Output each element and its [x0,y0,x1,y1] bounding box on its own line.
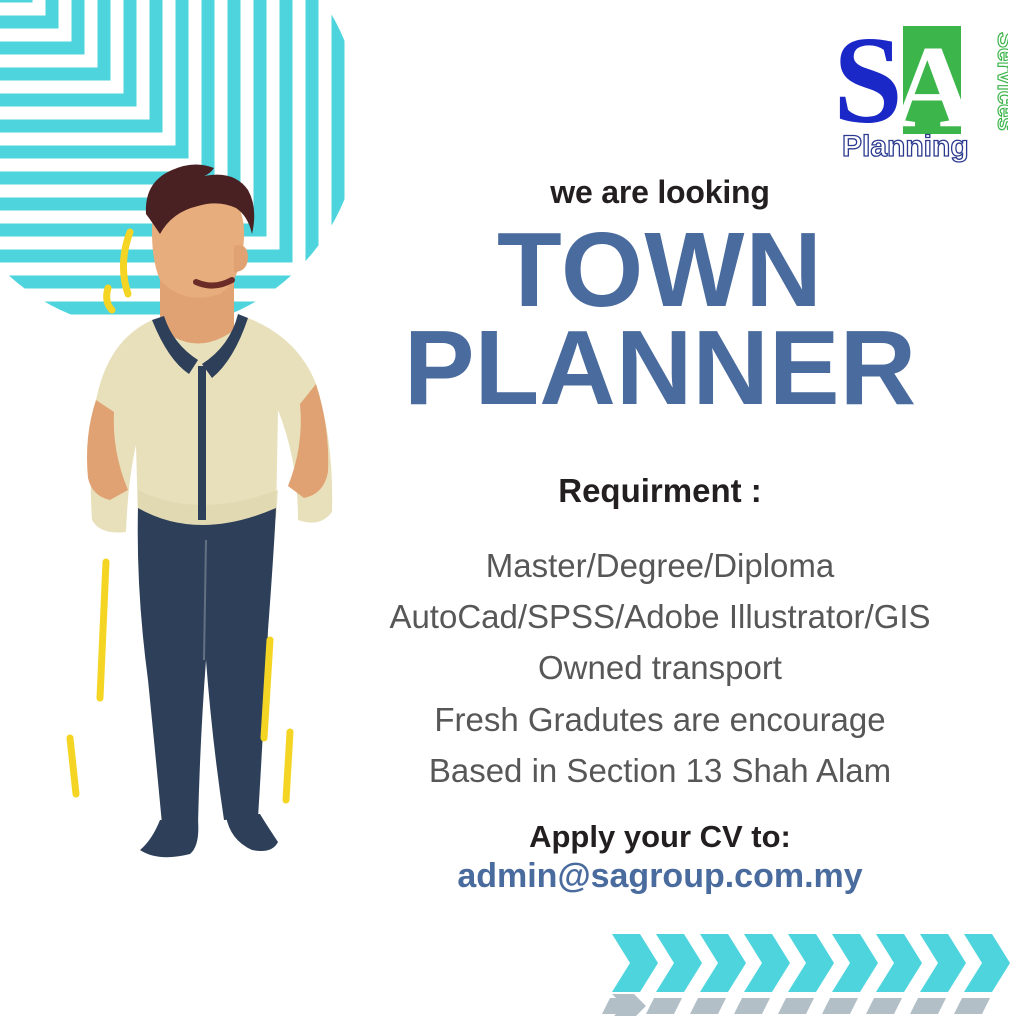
requirement-item: Master/Degree/Diploma [360,540,960,591]
kicker-text: we are looking [360,175,960,210]
page-title: TOWN PLANNER [360,222,960,417]
job-poster: S A Planning Services we are looking TOW… [0,0,1024,1024]
logo-word-planning: Planning [842,130,969,163]
logo-word-services: Services [992,32,1008,131]
standing-man-illustration [48,160,348,860]
requirement-item: AutoCad/SPSS/Adobe Illustrator/GIS [360,591,960,642]
requirements-heading: Requirment : [360,473,960,509]
requirement-item: Based in Section 13 Shah Alam [360,745,960,796]
company-logo: S A Planning Services [830,14,1008,164]
requirements-list: Master/Degree/Diploma AutoCad/SPSS/Adobe… [360,540,960,797]
headline-line-2: PLANNER [360,320,960,418]
poster-text-column: we are looking TOWN PLANNER Requirment :… [360,175,960,896]
apply-label: Apply your CV to: [360,819,960,855]
chevron-arrow-decoration [594,916,1024,1016]
requirement-item: Fresh Gradutes are encourage [360,694,960,745]
requirement-item: Owned transport [360,642,960,693]
yellow-accent-strokes [48,160,348,860]
apply-email-address[interactable]: admin@sagroup.com.my [360,857,960,896]
striped-circle-pattern [0,0,360,330]
